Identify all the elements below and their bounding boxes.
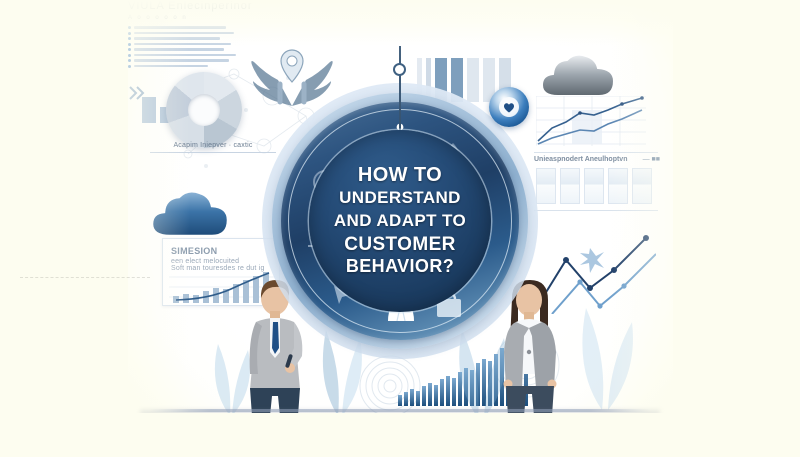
strip-card[interactable] [584, 168, 604, 204]
bullet-dot-icon [128, 48, 131, 51]
left-list-subtitle: A o o o o o n [128, 15, 262, 21]
illustration-canvas: Acapim Iniepver · caxtic SIMESION een el… [0, 0, 800, 457]
title-line-2: UNDERSTAND [334, 188, 466, 208]
page-title: HOW TO UNDERSTAND AND ADAPT TO CUSTOMER … [334, 164, 466, 277]
strip-card[interactable] [536, 168, 556, 204]
bullet-dot-icon [128, 26, 131, 29]
cloud-icon [538, 50, 618, 98]
list-item [128, 26, 262, 29]
title-line-3: AND ADAPT TO [334, 211, 466, 231]
cloud-icon [148, 186, 232, 238]
strip-card[interactable] [608, 168, 628, 204]
list-item [128, 54, 262, 57]
bullet-dot-icon [128, 59, 131, 62]
title-line-1: HOW TO [334, 164, 466, 188]
left-caption: Acapim Iniepver · caxtic [150, 142, 276, 153]
bullet-text [134, 32, 234, 35]
bullet-dot-icon [128, 54, 131, 57]
connector-node-top [393, 63, 406, 76]
list-item [128, 48, 262, 51]
heart-icon [503, 102, 515, 113]
dotted-guide-line [20, 277, 150, 278]
bullet-dot-icon [128, 32, 131, 35]
winged-location-pin-icon [246, 40, 338, 114]
right-chart-legend: — ■■ [643, 156, 660, 163]
bullet-text [134, 37, 220, 40]
strip-card[interactable] [632, 168, 652, 204]
bullet-text [134, 43, 231, 46]
right-area-line-chart [536, 96, 646, 146]
bullet-text [134, 48, 224, 51]
left-widget-subtitle-1: een elect melocuited [171, 258, 271, 265]
strip-card[interactable] [560, 168, 580, 204]
bullet-text [134, 26, 226, 29]
emblem-core: HOW TO UNDERSTAND AND ADAPT TO CUSTOMER … [309, 130, 491, 312]
right-card-strip [536, 168, 652, 204]
heart-badge[interactable] [489, 87, 529, 127]
heart-badge-inner [499, 97, 519, 117]
right-chart-label-row: Unieaspnodert Aneulhoptvn — ■■ [534, 156, 660, 163]
bullet-dot-icon [128, 37, 131, 40]
list-item [128, 32, 262, 35]
bullet-text [134, 54, 236, 57]
list-item [128, 37, 262, 40]
bullet-dot-icon [128, 65, 131, 68]
title-line-5: BEHAVIOR? [334, 256, 466, 277]
divider [534, 210, 658, 211]
bullet-dot-icon [128, 43, 131, 46]
leaf-decoration-icon [562, 300, 646, 410]
panel-shadow [140, 410, 660, 420]
list-item [128, 43, 262, 46]
right-chart-label: Unieaspnodert Aneulhoptvn [534, 156, 627, 163]
donut-chart [166, 72, 242, 148]
left-widget-title: SIMESION [171, 246, 271, 256]
divider [534, 152, 658, 153]
title-line-4: CUSTOMER [334, 234, 466, 256]
left-list-title: VIULA Enlecinperinor [128, 0, 262, 12]
